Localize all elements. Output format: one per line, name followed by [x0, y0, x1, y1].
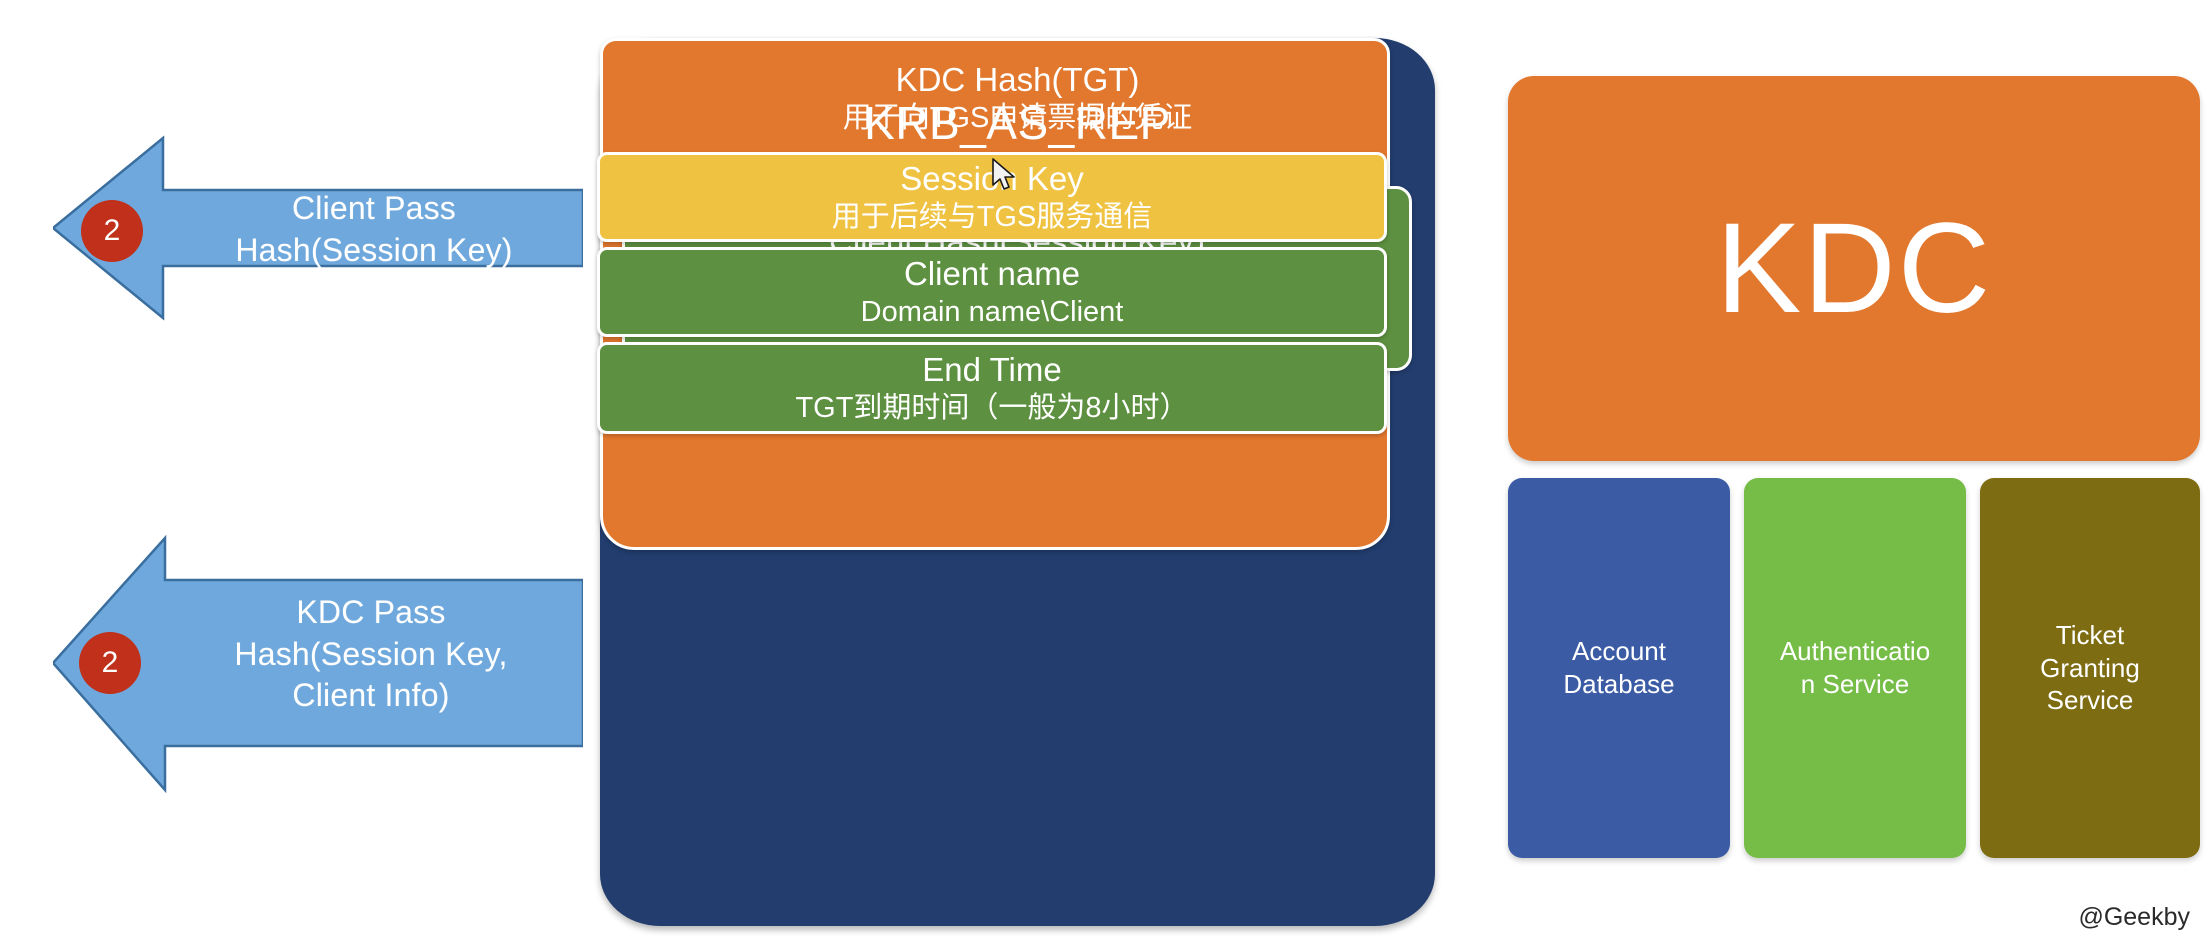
packet-end-time: End Time TGT到期时间（一般为8小时） [597, 342, 1387, 434]
step-badge-2: 2 [79, 632, 141, 694]
packet-client-name-line1: Client name [904, 254, 1080, 294]
arrow-kdc-pass-label: KDC Pass Hash(Session Key, Client Info) [165, 592, 577, 717]
arrow-client-pass: 2 Client Pass Hash(Session Key) [53, 128, 583, 328]
arrow-client-pass-label: Client Pass Hash(Session Key) [171, 188, 577, 271]
kdc-label: KDC [1716, 195, 1992, 342]
service-ticket-granting: Ticket Granting Service [1980, 478, 2200, 858]
krb-as-rep-panel: KRB_AS_REP Client Hash(Session Key) 一个被C… [600, 38, 1435, 926]
packet-end-time-line1: End Time [922, 350, 1061, 390]
packet-session-key: Session Key 用于后续与TGS服务通信 [597, 152, 1387, 242]
watermark: @Geekby [2078, 903, 2190, 932]
service-authentication: Authenticatio n Service [1744, 478, 1966, 858]
step-badge-1: 2 [81, 200, 143, 262]
service-account-database: Account Database [1508, 478, 1730, 858]
kdc-box: KDC [1508, 76, 2200, 461]
diagram-canvas: 2 Client Pass Hash(Session Key) 2 KDC Pa… [0, 0, 2208, 942]
packet-tgt-line1: KDC Hash(TGT) [600, 60, 1435, 100]
packet-tgt-line2: 用于向TGS申请票据的凭证 [600, 100, 1435, 136]
packet-tgt-container: KDC Hash(TGT) 用于向TGS申请票据的凭证 Session Key … [600, 38, 1390, 550]
step-badge-2-label: 2 [102, 646, 119, 680]
packet-session-key-line1: Session Key [900, 159, 1083, 199]
packet-session-key-line2: 用于后续与TGS服务通信 [832, 199, 1153, 235]
packet-client-name: Client name Domain name\Client [597, 247, 1387, 337]
packet-end-time-line2: TGT到期时间（一般为8小时） [795, 390, 1188, 426]
step-badge-1-label: 2 [104, 214, 121, 248]
service-authentication-label: Authenticatio n Service [1780, 635, 1930, 701]
packet-client-name-line2: Domain name\Client [861, 294, 1124, 330]
service-account-database-label: Account Database [1563, 635, 1674, 701]
service-ticket-granting-label: Ticket Granting Service [2040, 619, 2140, 717]
packet-tgt-header: KDC Hash(TGT) 用于向TGS申请票据的凭证 [600, 60, 1435, 137]
arrow-kdc-pass: 2 KDC Pass Hash(Session Key, Client Info… [53, 518, 583, 808]
